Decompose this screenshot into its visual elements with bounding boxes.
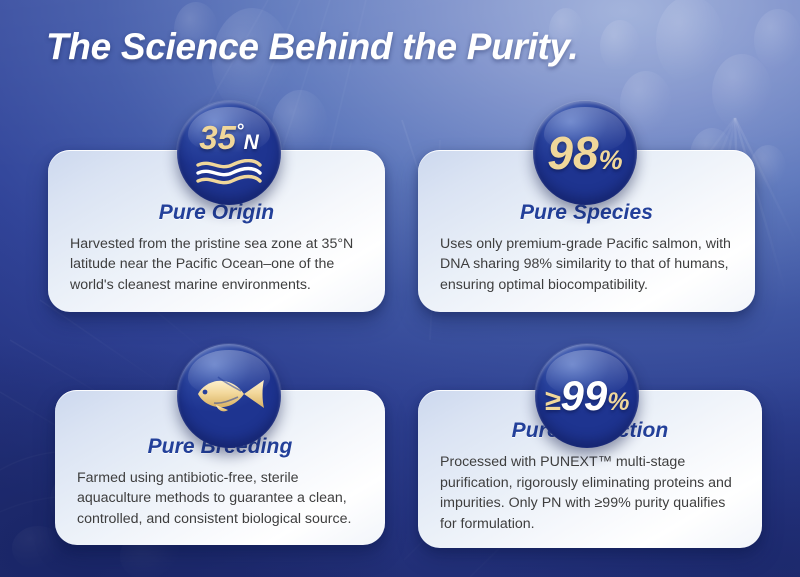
card-body: Uses only premium-grade Pacific salmon, … [440, 234, 733, 295]
badge-latitude-waves-icon: 35°N [177, 101, 281, 205]
card-body: Processed with PUNEXT™ multi-stage purif… [440, 452, 740, 534]
infographic-stage: The Science Behind the Purity. Pure Orig… [0, 0, 800, 577]
badge-percent-98-icon: 98% [533, 101, 637, 205]
badge-fish-icon [177, 344, 281, 448]
card-body: Harvested from the pristine sea zone at … [70, 234, 363, 295]
page-title: The Science Behind the Purity. [46, 24, 578, 70]
badge-suffix: % [599, 145, 623, 175]
card-title: Pure Origin [70, 201, 363, 225]
badge-suffix: % [607, 388, 629, 416]
badge-percent-99-icon: ≥99% [535, 344, 639, 448]
badge-degree: ° [236, 121, 244, 142]
badge-value: 35 [199, 119, 236, 156]
card-body: Farmed using antibiotic-free, sterile aq… [77, 468, 363, 529]
fish-icon [192, 372, 266, 416]
badge-value: 99 [560, 372, 607, 419]
badge-suffix: N [244, 131, 259, 154]
badge-value: 98 [547, 127, 598, 179]
wave-lines-icon [194, 159, 264, 185]
badge-prefix: ≥ [545, 385, 561, 417]
